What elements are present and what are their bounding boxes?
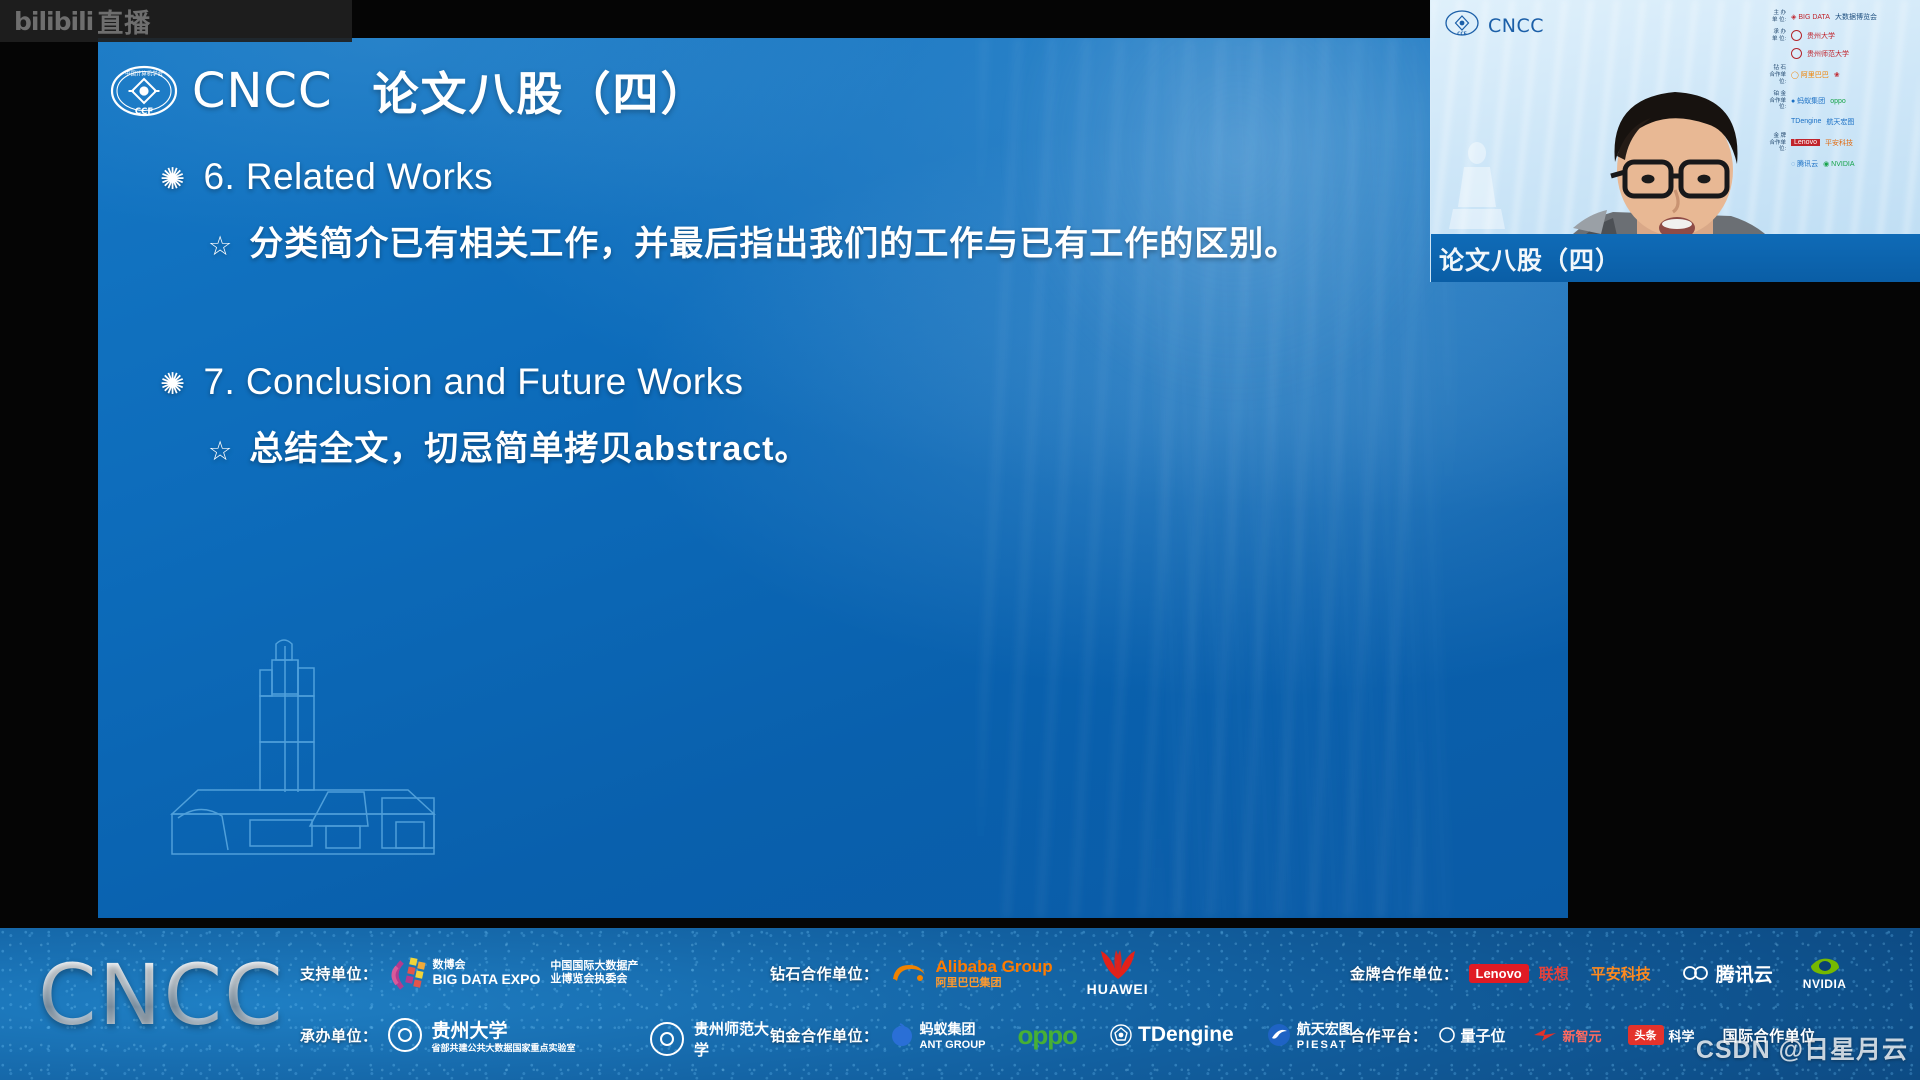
bigdata-expo-cn: 数博会 [433,959,541,972]
cncc-footer-logo: CNCC [38,946,285,1044]
footer-sponsor-columns: 支持单位： [300,928,1920,1080]
svg-text:CCF: CCF [1457,31,1466,36]
piesat-mark-icon [1266,1022,1292,1048]
nvidia-name: NVIDIA [1803,977,1847,991]
footer-row: 铂金合作单位： 蚂蚁集团 ANT GROUP oppo [770,1012,1350,1058]
oppo-logo: oppo [1018,1020,1078,1051]
slide-block: ✺ 7. Conclusion and Future Works ☆ 总结全文，… [160,361,1538,470]
pip-sponsor-row: ◌ 腾讯云 ◉ NVIDIA [1764,159,1914,169]
alibaba-logo: Alibaba Group 阿里巴巴集团 [889,957,1053,990]
footer-row: 贵州师范大学 [650,1016,770,1062]
slide-heading-text: 7. Conclusion and Future Works [204,361,744,403]
pip-sponsor-row: 承 办单 位: 贵州大学 [1764,29,1914,42]
footer-secondary-item: 贵州师范大学 [650,928,770,1080]
piesat-name-en: PIESAT [1297,1039,1353,1052]
footer-column: 钻石合作单位： Alibaba Group 阿里巴巴集团 [770,928,1350,1080]
xinzhiyuan-mark-icon [1532,1027,1558,1043]
bilibili-logo: bilibili [14,7,93,36]
pip-sponsor-label: 钻 石合作单位: [1764,65,1786,85]
nvidia-logo: ◉ NVIDIA [1823,160,1854,168]
bilibili-watermark: bilibili 直播 [0,0,352,42]
ant-group-mark-icon [889,1022,915,1048]
footer-row-label: 金牌合作单位： [1350,963,1459,984]
pip-sponsor-row: TDengine 航天宏图 [1764,117,1914,127]
livestream-screen: CCF 中国计算机学会 CNCC 论文八股（四） ✺ 6. Related Wo… [0,0,1920,1080]
huawei-name: HUAWEI [1087,981,1149,997]
pip-strip-text: 论文八股（四） [1431,234,1920,277]
oppo-logo: oppo [1830,98,1846,105]
slide-heading-row: ✺ 7. Conclusion and Future Works [160,361,1538,403]
svg-text:CCF: CCF [135,107,153,117]
bigdata-expo-logo: ◈ BIG DATA [1791,13,1830,21]
cncc-wordmark: CNCC [192,63,332,119]
tencent-cloud-logo: 腾讯云 [1681,960,1773,987]
footer-row: 金牌合作单位： Lenovo 联想 平安科技 腾讯云 [1350,950,1910,996]
pip-branding: CCF CNCC [1445,10,1544,41]
tdengine-name: TDengine [1138,1023,1234,1047]
piesat-name-cn: 航天宏图 [1297,1019,1353,1039]
alibaba-logo: ◯ 阿里巴巴 [1791,70,1829,80]
pip-cncc-wordmark: CNCC [1488,15,1544,37]
pip-slide-reflection-strip: 论文八股（四） [1431,234,1920,282]
tencent-cloud-logo: ◌ 腾讯云 [1791,159,1818,169]
footer-row-label: 承办单位： [300,1025,378,1046]
guizhou-university-lab: 省部共建公共大数据国家重点实验室 [432,1043,576,1053]
csdn-watermark: CSDN @日星月云 [1696,1030,1908,1066]
toutiao-sub: 科学 [1669,1026,1695,1045]
guizhou-normal-seal-icon [1791,48,1802,59]
guizhou-normal-university-seal-icon [650,1022,684,1056]
ccf-emblem-icon: CCF [1445,10,1479,41]
lenovo-name-cn: 联想 [1539,963,1569,984]
tencent-cloud-mark-icon [1681,962,1711,984]
slide-body: ✺ 6. Related Works ☆ 分类简介已有相关工作，并最后指出我们的… [160,156,1538,566]
pip-sponsor-row: 贵州师范大学 [1764,48,1914,59]
pingan-logo: 平安科技 [1825,138,1853,148]
tdengine-logo: TDengine [1109,1023,1234,1047]
footer-row-label: 合作平台： [1350,1025,1428,1046]
guizhou-normal-university-name: 贵州师范大学 [694,1018,770,1060]
slide-header: CCF 中国计算机学会 CNCC 论文八股（四） [110,58,708,124]
star-bullet-icon: ☆ [208,233,233,260]
bigdata-expo-logo: 数博会 BIG DATA EXPO [388,956,541,990]
expo-committee-label: 中国国际大数据产业博览会执委会 [550,960,642,985]
footer-row-label: 钻石合作单位： [770,963,879,984]
ant-group-logo: 蚂蚁集团 ANT GROUP [889,1019,986,1052]
sponsor-footer-bar: CNCC 支持单位： [0,928,1920,1080]
xinzhiyuan-logo: 新智元 [1532,1026,1602,1045]
snow-sculpture-graphic [1447,137,1507,232]
lenovo-logo: Lenovo [1469,964,1529,983]
guizhou-university-name: 贵州大学 [432,1016,576,1043]
footer-column: 支持单位： [300,928,650,1080]
huawei-logo: ❀ [1834,71,1840,79]
slide-heading-text: 6. Related Works [204,156,494,198]
slide-block: ✺ 6. Related Works ☆ 分类简介已有相关工作，并最后指出我们的… [160,156,1538,265]
pip-sponsor-wall: 主 办单 位: ◈ BIG DATA 大数据博览会 承 办单 位: 贵州大学 贵… [1764,10,1914,169]
bigdata-expo-mark-icon [388,956,428,990]
footer-row-label: 支持单位： [300,963,378,984]
presentation-slide: CCF 中国计算机学会 CNCC 论文八股（四） ✺ 6. Related Wo… [98,38,1568,918]
ant-group-logo: ● 蚂蚁集团 [1791,96,1825,106]
snowflake-bullet-icon: ✺ [160,165,186,195]
xinzhiyuan-name: 新智元 [1563,1026,1602,1045]
pip-sponsor-row: 钻 石合作单位: ◯ 阿里巴巴 ❀ [1764,65,1914,85]
nvidia-eye-icon [1807,955,1843,977]
piesat-logo: 航天宏图 [1826,117,1854,127]
toutiao-badge: 头条 [1628,1025,1664,1045]
nvidia-logo: NVIDIA [1803,955,1847,991]
pip-sponsor-label: 金 牌合作单位: [1764,133,1786,153]
pip-sponsor-row: 主 办单 位: ◈ BIG DATA 大数据博览会 [1764,10,1914,23]
qbitai-logo: 量子位 [1438,1025,1506,1046]
slide-subpoint-text: 分类简介已有相关工作，并最后指出我们的工作与已有工作的区别。 [249,216,1299,265]
lenovo-logo: Lenovo [1791,139,1820,146]
wireframe-city-graphic [168,606,478,856]
footer-row-label: 铂金合作单位： [770,1025,879,1046]
pip-sponsor-label: 主 办单 位: [1764,10,1786,23]
expo-committee-logo: 大数据博览会 [1835,12,1877,22]
webcam-video-panel[interactable]: CCF CNCC 主 办单 位: ◈ BIG DATA 大数据博览会 承 办单 … [1430,0,1920,282]
star-bullet-icon: ☆ [208,438,233,465]
guizhou-university-seal-icon [1791,30,1802,41]
snowflake-bullet-icon: ✺ [160,370,186,400]
alibaba-name: Alibaba Group [936,957,1053,977]
huawei-logo: HUAWEI [1087,949,1149,997]
pip-sponsor-label: 铂 金合作单位: [1764,91,1786,111]
pip-sponsor-label: 承 办单 位: [1764,29,1786,42]
bilibili-live-label: 直播 [97,3,151,40]
footer-row: 承办单位： 贵州大学 省部共建公共大数据国家重点实验室 [300,1012,650,1058]
slide-subpoint-row: ☆ 分类简介已有相关工作，并最后指出我们的工作与已有工作的区别。 [208,216,1538,265]
footer-row: 钻石合作单位： Alibaba Group 阿里巴巴集团 [770,950,1350,996]
guizhou-normal-university-logo: 贵州师范大学 [1807,49,1849,59]
slide-heading-row: ✺ 6. Related Works [160,156,1538,198]
piesat-logo: 航天宏图 PIESAT [1266,1019,1353,1052]
alibaba-mark-icon [889,959,931,987]
svg-text:中国计算机学会: 中国计算机学会 [125,70,163,78]
ccf-emblem-icon: CCF 中国计算机学会 [110,65,178,117]
guizhou-university-logo: 贵州大学 [1807,31,1835,41]
qbitai-name: 量子位 [1461,1025,1506,1046]
alibaba-name-cn: 阿里巴巴集团 [936,977,1053,990]
slide-subpoint-text: 总结全文，切忌简单拷贝abstract。 [249,421,809,470]
ant-group-name-cn: 蚂蚁集团 [920,1019,986,1039]
slide-subpoint-row: ☆ 总结全文，切忌简单拷贝abstract。 [208,421,1538,470]
huawei-flower-icon [1092,949,1144,981]
pingan-logo: 平安科技 [1591,963,1651,984]
tdengine-mark-icon [1109,1023,1133,1047]
qbitai-mark-icon [1438,1026,1456,1044]
guizhou-university-seal-icon [388,1018,422,1052]
tencent-cloud-name: 腾讯云 [1716,960,1773,987]
tdengine-logo: TDengine [1791,118,1821,125]
slide-title: 论文八股（四） [372,58,708,124]
ant-group-name-en: ANT GROUP [920,1039,986,1052]
bigdata-expo-en: BIG DATA EXPO [433,971,541,987]
toutiao-logo: 头条 科学 [1628,1025,1695,1045]
pip-sponsor-row: 铂 金合作单位: ● 蚂蚁集团 oppo [1764,91,1914,111]
pip-sponsor-row: 金 牌合作单位: Lenovo 平安科技 [1764,133,1914,153]
footer-row: 支持单位： [300,950,650,996]
